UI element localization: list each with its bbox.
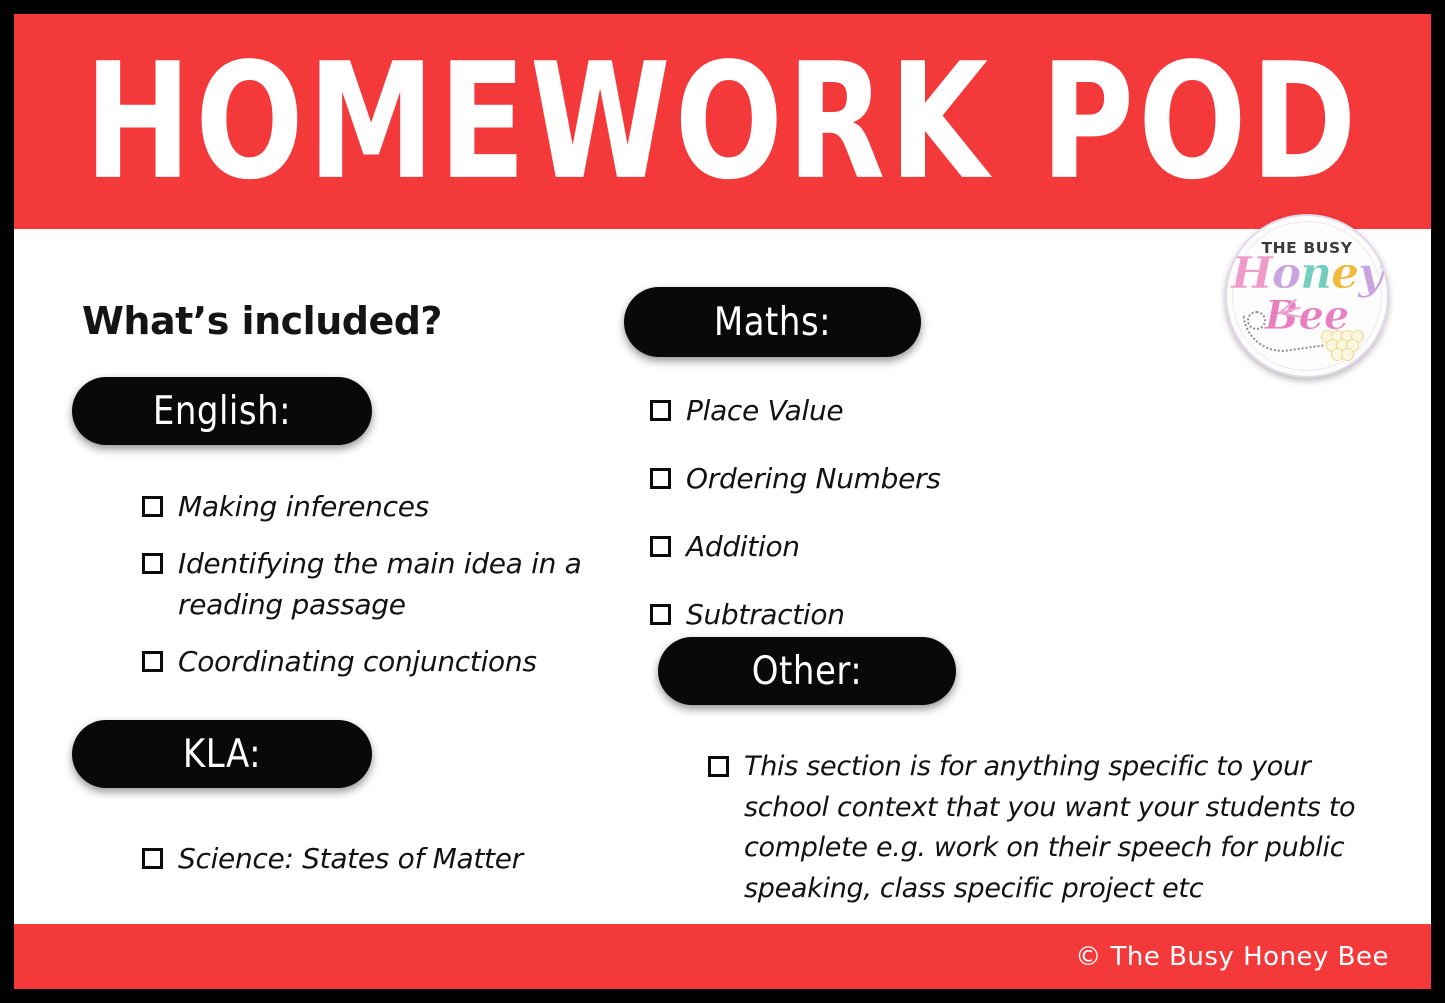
checkbox-icon[interactable] <box>142 848 163 869</box>
list-item-label: Making inferences <box>178 487 429 528</box>
list-item-label: Place Value <box>686 391 843 432</box>
checkbox-icon[interactable] <box>142 496 163 517</box>
section-pill-maths: Maths: <box>624 287 921 357</box>
brand-logo-badge: THE BUSY Honey Bee <box>1225 214 1389 378</box>
section-pill-other: Other: <box>658 637 956 705</box>
header-banner: HOMEWORK POD <box>14 14 1431 229</box>
checklist-kla: Science: States of Matter <box>142 839 642 896</box>
logo-wordmark-honey: Honey <box>1227 252 1387 296</box>
checklist-other: This section is for anything specific to… <box>708 747 1368 925</box>
section-pill-label-other: Other: <box>752 648 862 694</box>
honeycomb-icon <box>1321 330 1365 356</box>
checkbox-icon[interactable] <box>650 536 671 557</box>
checkbox-icon[interactable] <box>650 400 671 421</box>
checkbox-icon[interactable] <box>650 604 671 625</box>
checkbox-icon[interactable] <box>142 651 163 672</box>
list-item-label: Addition <box>686 527 800 568</box>
checklist-english: Making inferences Identifying the main i… <box>142 487 647 699</box>
page-title: HOMEWORK POD <box>84 43 1360 203</box>
list-item[interactable]: This section is for anything specific to… <box>708 747 1368 909</box>
page-heading: What’s included? <box>82 299 442 343</box>
list-item[interactable]: Ordering Numbers <box>650 459 1070 500</box>
list-item[interactable]: Addition <box>650 527 1070 568</box>
checkbox-icon[interactable] <box>650 468 671 489</box>
list-item-label: Ordering Numbers <box>686 459 941 500</box>
list-item[interactable]: Identifying the main idea in a reading p… <box>142 544 647 626</box>
logo-letter-y: y <box>1358 248 1383 299</box>
list-item-label: Coordinating conjunctions <box>178 642 537 683</box>
section-pill-english: English: <box>72 377 372 445</box>
poster-inner: HOMEWORK POD THE BUSY Honey Bee <box>14 14 1431 989</box>
content-area: What’s included? English: Making inferen… <box>14 229 1431 924</box>
list-item-label: Identifying the main idea in a reading p… <box>178 544 647 626</box>
list-item[interactable]: Coordinating conjunctions <box>142 642 647 683</box>
list-item-label: This section is for anything specific to… <box>744 747 1368 909</box>
list-item[interactable]: Science: States of Matter <box>142 839 642 880</box>
section-pill-kla: KLA: <box>72 720 372 788</box>
section-pill-label-english: English: <box>153 388 291 434</box>
list-item-label: Subtraction <box>686 595 845 636</box>
section-pill-label-maths: Maths: <box>714 299 831 345</box>
section-pill-label-kla: KLA: <box>183 731 261 777</box>
list-item[interactable]: Place Value <box>650 391 1070 432</box>
footer-banner: © The Busy Honey Bee <box>14 924 1431 989</box>
copyright-text: © The Busy Honey Bee <box>1075 942 1389 972</box>
checkbox-icon[interactable] <box>708 756 729 777</box>
list-item[interactable]: Making inferences <box>142 487 647 528</box>
checkbox-icon[interactable] <box>142 553 163 574</box>
checklist-maths: Place Value Ordering Numbers Addition Su… <box>650 391 1070 663</box>
list-item[interactable]: Subtraction <box>650 595 1070 636</box>
poster-page: HOMEWORK POD THE BUSY Honey Bee <box>0 0 1445 1003</box>
list-item-label: Science: States of Matter <box>178 839 523 880</box>
